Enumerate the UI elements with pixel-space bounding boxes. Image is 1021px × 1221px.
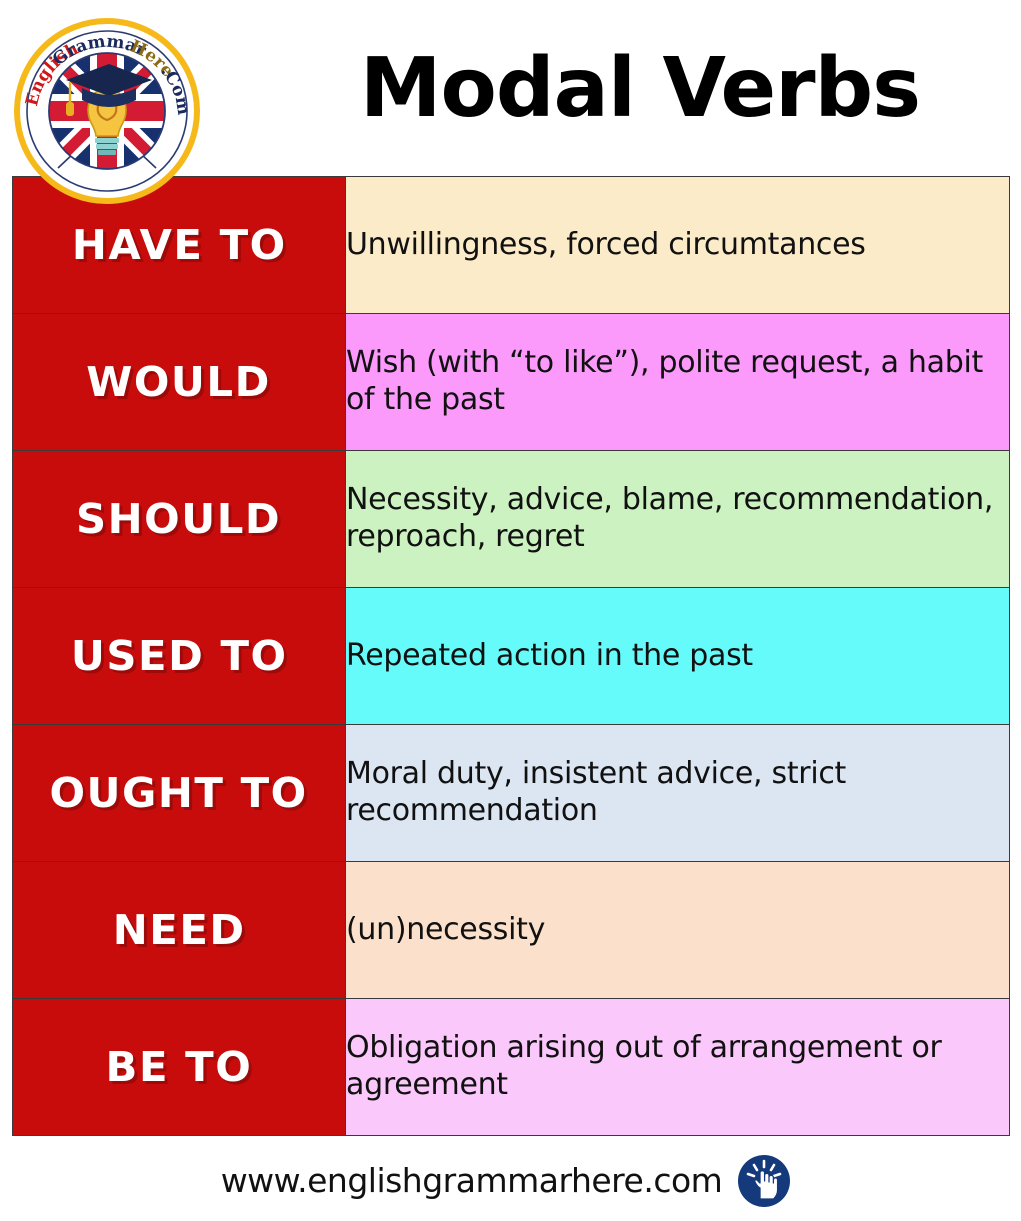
table-row: Used to Repeated action in the past	[13, 588, 1010, 725]
modal-verbs-table: Have to Unwillingness, forced circumtanc…	[12, 176, 1010, 1136]
definition-cell-have-to: Unwillingness, forced circumtances	[346, 177, 1010, 314]
definition-text: Repeated action in the past	[346, 638, 753, 673]
definition-text: Necessity, advice, blame, recommendation…	[346, 482, 993, 554]
table-row: Be to Obligation arising out of arrangem…	[13, 999, 1010, 1136]
logo-svg: English Grammar Here .Com	[14, 18, 200, 204]
definition-cell-used-to: Repeated action in the past	[346, 588, 1010, 725]
definition-text: Obligation arising out of arrangement or…	[346, 1030, 942, 1102]
term-label: Would	[87, 362, 272, 403]
term-cell-need: Need	[13, 862, 346, 999]
header: English Grammar Here .Com Modal Verbs	[0, 0, 1021, 178]
footer-inner: www.englishgrammarhere.com	[221, 1153, 793, 1209]
click-hand-icon	[736, 1153, 792, 1209]
term-cell-used-to: Used to	[13, 588, 346, 725]
term-cell-should: Should	[13, 451, 346, 588]
table-row: Would Wish (with “to like”), polite requ…	[13, 314, 1010, 451]
table-body: Have to Unwillingness, forced circumtanc…	[13, 177, 1010, 1136]
term-label: Need	[113, 910, 246, 951]
page-title: Modal Verbs	[330, 48, 950, 130]
definition-cell-should: Necessity, advice, blame, recommendation…	[346, 451, 1010, 588]
term-cell-ought-to: Ought to	[13, 725, 346, 862]
definition-cell-would: Wish (with “to like”), polite request, a…	[346, 314, 1010, 451]
table-row: Ought to Moral duty, insistent advice, s…	[13, 725, 1010, 862]
definition-text: Wish (with “to like”), polite request, a…	[346, 345, 983, 417]
term-cell-would: Would	[13, 314, 346, 451]
definition-cell-need: (un)necessity	[346, 862, 1010, 999]
definition-cell-ought-to: Moral duty, insistent advice, strict rec…	[346, 725, 1010, 862]
term-cell-be-to: Be to	[13, 999, 346, 1136]
definition-cell-be-to: Obligation arising out of arrangement or…	[346, 999, 1010, 1136]
footer: www.englishgrammarhere.com	[0, 1140, 1021, 1221]
term-label: Used to	[71, 636, 288, 677]
definition-text: Unwillingness, forced circumtances	[346, 227, 866, 262]
website-url[interactable]: www.englishgrammarhere.com	[221, 1161, 723, 1200]
term-label: Ought to	[50, 773, 308, 814]
english-grammar-here-logo: English Grammar Here .Com	[14, 18, 200, 204]
table-row: Need (un)necessity	[13, 862, 1010, 999]
table-row: Should Necessity, advice, blame, recomme…	[13, 451, 1010, 588]
term-label: Be to	[106, 1047, 253, 1088]
term-label: Should	[76, 499, 281, 540]
term-label: Have to	[72, 225, 287, 266]
definition-text: Moral duty, insistent advice, strict rec…	[346, 756, 846, 828]
definition-text: (un)necessity	[346, 912, 545, 947]
